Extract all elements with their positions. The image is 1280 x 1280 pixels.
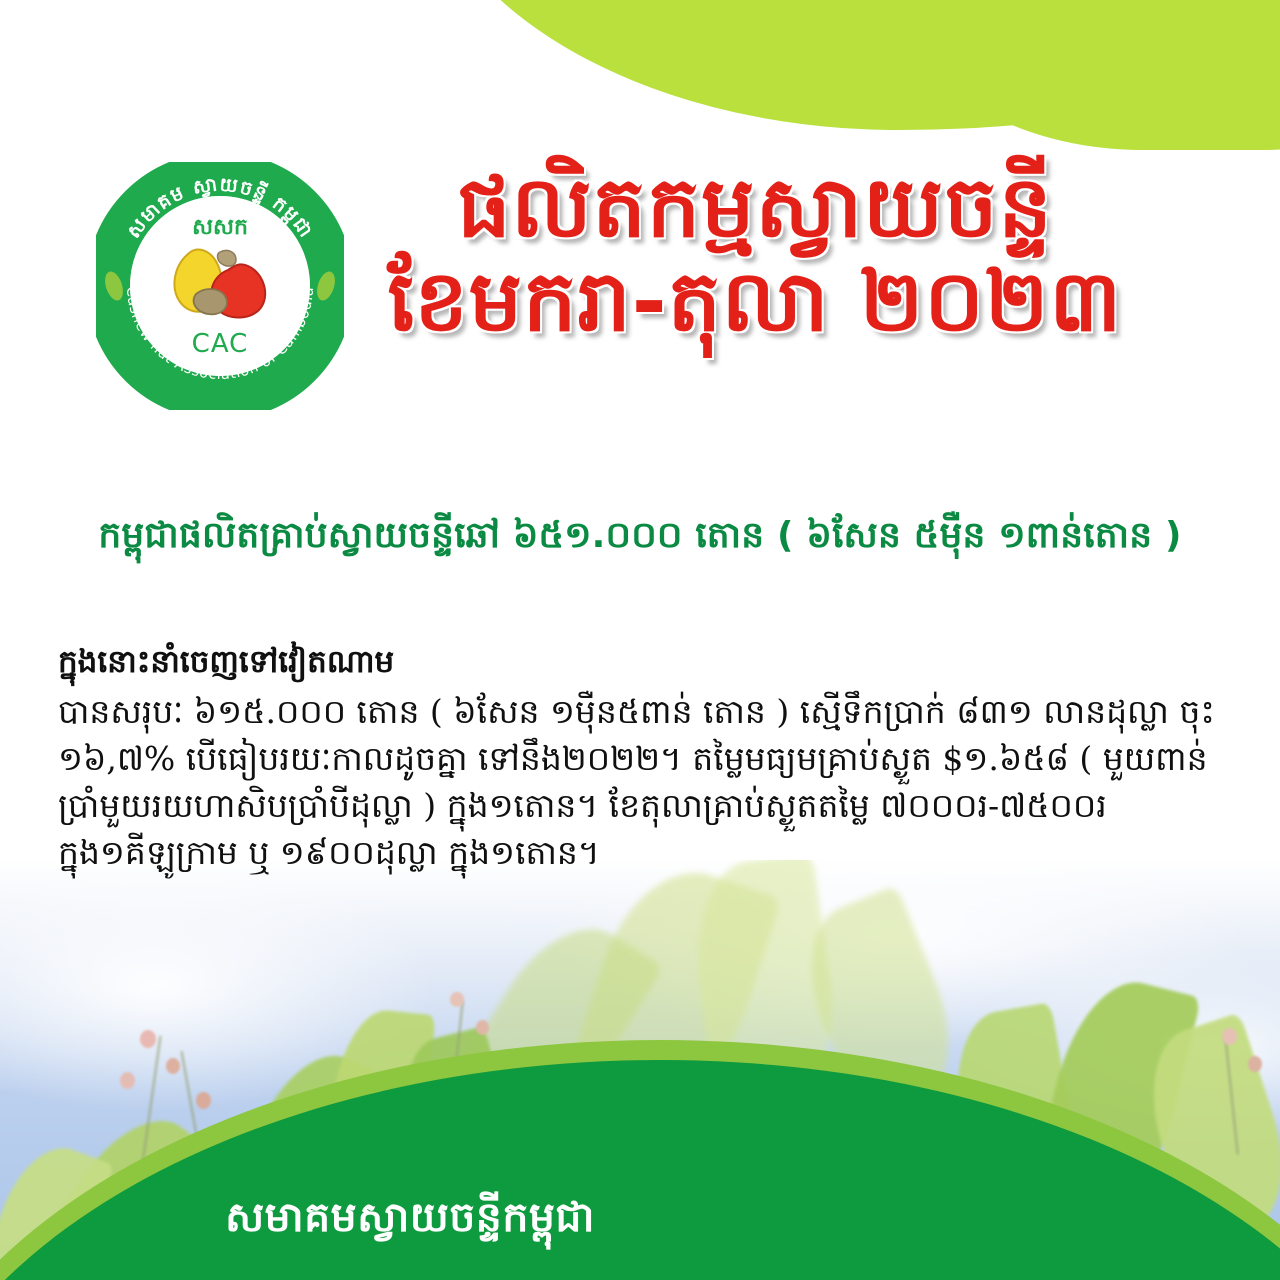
flower-bud <box>120 1072 135 1089</box>
flower-bud <box>1222 1028 1237 1045</box>
production-headline: កម្ពុជាផលិតគ្រាប់ស្វាយចន្ទីឆៅ ៦៥១.០០០ តោ… <box>0 512 1280 565</box>
body-paragraph: បានសរុបៈ ៦១៥.០០០ តោន ( ៦សែន ១ម៉ឺន៥ពាន់ ត… <box>58 689 1228 876</box>
body-subheading: ក្នុងនោះនាំចេញទៅវៀតណាម <box>58 640 1228 685</box>
association-logo: សមាគម ស្វាយចន្ទី កម្ពុជា Cashew nut Asso… <box>96 162 344 410</box>
flower-bud <box>450 992 464 1007</box>
poster-canvas: សមាគមស្វាយចន្ទីកម្ពុជា សមាគម ស្វាយចន្ទី … <box>0 0 1280 1280</box>
logo-abbreviation: CAC <box>192 329 249 359</box>
footer-organization-name: សមាគមស្វាយចន្ទីកម្ពុជា <box>0 1193 820 1242</box>
flower-bud <box>1248 1056 1262 1072</box>
flower-bud <box>196 1092 211 1109</box>
poster-title-line-1: ផលិតកម្មស្វាយចន្ទី <box>370 160 1140 254</box>
poster-title: ផលិតកម្មស្វាយចន្ទី ខែមករា-តុលា ២០២៣ <box>370 160 1140 348</box>
body-text-block: ក្នុងនោះនាំចេញទៅវៀតណាម បានសរុបៈ ៦១៥.០០០ … <box>58 640 1228 876</box>
logo-khmer-center: សសក <box>192 215 248 240</box>
flower-bud <box>476 1020 489 1035</box>
poster-title-line-2: ខែមករា-តុលា ២០២៣ <box>370 254 1140 348</box>
flower-bud <box>166 1058 180 1074</box>
flower-bud <box>140 1030 156 1048</box>
